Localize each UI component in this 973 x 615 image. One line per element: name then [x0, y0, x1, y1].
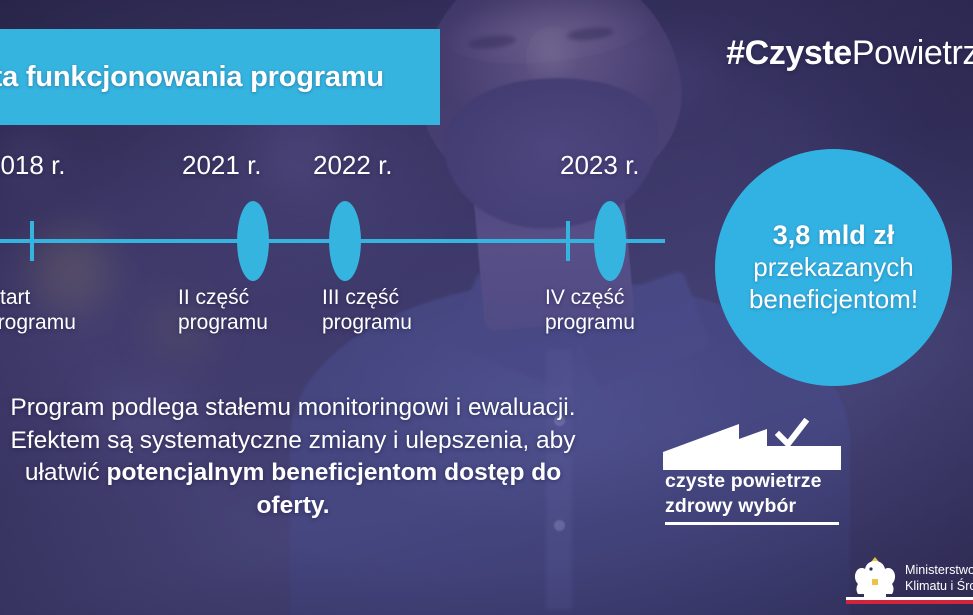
ministry-lockup: Ministerstwo Klimatu i Środo — [852, 548, 973, 610]
timeline-caption-2018: Start programu — [0, 286, 76, 336]
highlight-line-2: przekazanych — [753, 252, 913, 284]
highlight-line-3: beneficjentom! — [749, 284, 918, 316]
ministry-name-line-2: Klimatu i Środo — [905, 579, 973, 595]
program-logo-line-2: zdrowy wybór — [665, 495, 796, 518]
ministry-name: Ministerstwo Klimatu i Środo — [905, 563, 973, 594]
paragraph-bold-text: potencjalnym beneficjentom dostęp do ofe… — [107, 459, 562, 519]
highlight-amount: 3,8 mld zł — [773, 219, 895, 252]
hashtag-bold-part: #Czyste — [726, 34, 852, 72]
timeline: 2018 r. 2021 r. 2022 r. 2023 r. Start pr… — [0, 150, 680, 365]
timeline-year-2023: 2023 r. — [560, 150, 640, 181]
ministry-rule-red — [846, 600, 973, 604]
program-logo: czyste powietrze zdrowy wybór — [663, 418, 841, 530]
timeline-caption-2022: III część programu — [322, 286, 412, 336]
timeline-tick-extra — [566, 221, 570, 261]
timeline-year-2021: 2021 r. — [182, 150, 262, 181]
description-paragraph: Program podlega stałemu monitoringowi i … — [0, 392, 586, 522]
checkmark-icon — [775, 418, 809, 452]
highlight-circle: 3,8 mld zł przekazanych beneficjentom! — [715, 149, 952, 386]
title-banner: Data funkcjonowania programu — [0, 29, 440, 125]
timeline-node-2023 — [594, 201, 626, 281]
content-layer: Data funkcjonowania programu #CzystePowi… — [0, 0, 973, 615]
house-roof-icon — [663, 418, 841, 470]
hashtag-regular-part: Powietrz — [852, 34, 973, 72]
timeline-node-2021 — [237, 201, 269, 281]
timeline-node-2022 — [329, 201, 361, 281]
campaign-hashtag: #CzystePowietrz — [726, 34, 973, 73]
ministry-name-line-1: Ministerstwo — [905, 563, 973, 579]
timeline-year-2022: 2022 r. — [313, 150, 393, 181]
timeline-tick-2018 — [30, 221, 34, 261]
timeline-year-2018: 2018 r. — [0, 150, 66, 181]
timeline-caption-2021: II część programu — [178, 286, 268, 336]
page-title: Data funkcjonowania programu — [0, 61, 384, 94]
infographic-slide: Data funkcjonowania programu #CzystePowi… — [0, 0, 973, 615]
timeline-caption-2023: IV część programu — [545, 286, 635, 336]
program-logo-rule — [665, 522, 839, 525]
program-logo-line-1: czyste powietrze — [665, 470, 822, 493]
